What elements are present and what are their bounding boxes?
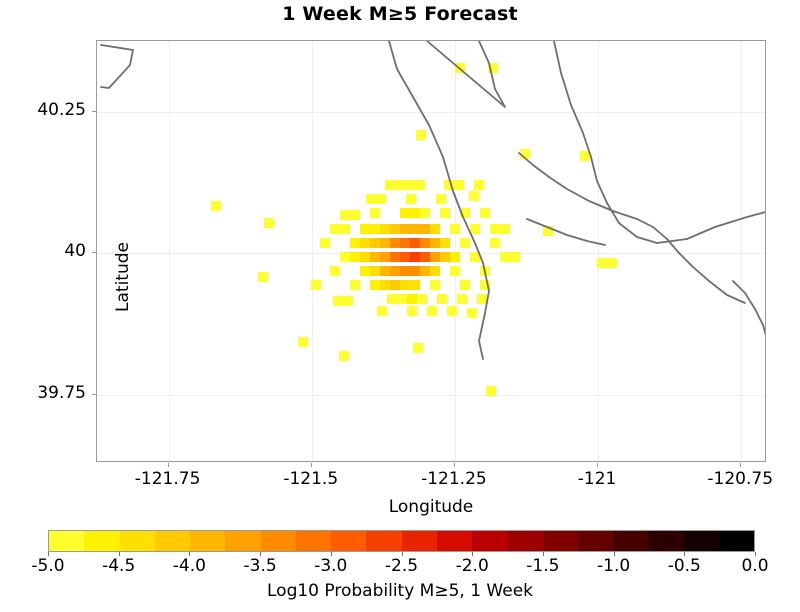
fault-line [554,41,657,243]
fault-line [427,41,505,107]
colorbar-segment [543,531,578,551]
colorbar-segment [84,531,119,551]
x-tick-label: -121.75 [103,469,233,489]
colorbar-segment [402,531,437,551]
y-axis-title: Latitude [113,157,133,397]
fault-line [657,211,765,243]
x-tick [454,463,455,467]
fault-line [527,219,605,245]
x-tick-label: -121.25 [389,469,519,489]
y-tick [92,252,96,253]
y-tick-label: 40.25 [0,100,86,120]
colorbar-gradient [48,530,755,552]
fault-line [519,153,679,253]
fault-line [101,45,133,88]
x-tick [740,463,741,467]
fault-line [733,281,765,339]
colorbar-tick-label: 0.0 [695,556,800,576]
y-tick-label: 39.75 [0,383,86,403]
colorbar-title: Log10 Probability M≥5, 1 Week [0,581,800,601]
y-tick [92,111,96,112]
plot-axes: Latitude [96,40,766,462]
colorbar-segment [719,531,754,551]
x-tick [597,463,598,467]
x-tick-label: -121 [532,469,662,489]
x-tick [168,463,169,467]
fault-lines-overlay [97,41,765,461]
fault-line [389,41,483,263]
plot-area [97,41,765,461]
fault-line [479,263,489,359]
colorbar-segment [648,531,683,551]
colorbar-segment [366,531,401,551]
y-tick [92,394,96,395]
colorbar-segment [684,531,719,551]
figure-title: 1 Week M≥5 Forecast [0,3,800,25]
colorbar-segment [331,531,366,551]
colorbar-segment [155,531,190,551]
x-axis-title: Longitude [96,497,766,517]
colorbar-segment [472,531,507,551]
colorbar-segment [437,531,472,551]
colorbar-segment [49,531,84,551]
x-tick-label: -121.5 [246,469,376,489]
x-tick-label: -120.75 [675,469,800,489]
colorbar-segment [613,531,648,551]
colorbar-segment [120,531,155,551]
y-tick-label: 40 [0,241,86,261]
colorbar-segment [578,531,613,551]
colorbar-segment [261,531,296,551]
colorbar-segment [225,531,260,551]
colorbar-segment [507,531,542,551]
colorbar-segment [296,531,331,551]
colorbar-segment [190,531,225,551]
x-tick [311,463,312,467]
colorbar [48,530,755,552]
figure-root: 1 Week M≥5 Forecast Latitude -121.75-121… [0,0,800,612]
fault-line [679,253,745,303]
